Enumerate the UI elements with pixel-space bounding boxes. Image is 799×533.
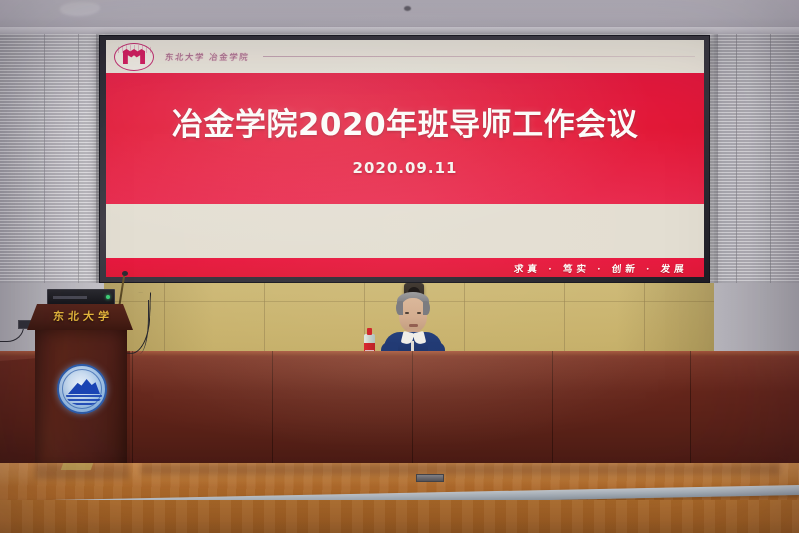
slide-footer-band: 求真 · 笃实 · 创新 · 发展	[106, 258, 704, 277]
seated-speaker	[375, 286, 451, 358]
slide-header-rule	[263, 56, 695, 57]
speaker-mouth	[409, 324, 418, 327]
floor-outlet-plate	[416, 474, 444, 482]
slide-date: 2020.09.11	[106, 159, 704, 177]
bottle-cap	[367, 328, 372, 335]
ceiling-patch	[60, 2, 100, 16]
lectern-podium[interactable]: 东北大学	[30, 304, 130, 480]
slide-body-area	[106, 204, 704, 258]
speaker-eye-right	[417, 312, 421, 314]
floor-marker-tape	[61, 463, 94, 470]
speaker-hair-right	[423, 301, 430, 315]
stage-apron	[0, 500, 799, 533]
speaker-hair-left	[396, 301, 403, 315]
podium-microphone-head-icon	[122, 271, 128, 276]
led-screen[interactable]: 东北大学 冶金学院 冶金学院2020年班导师工作会议 2020.09.11 求真…	[99, 35, 710, 283]
slide-header: 东北大学 冶金学院	[106, 40, 704, 73]
slide-motto: 求真 · 笃实 · 创新 · 发展	[514, 261, 689, 275]
ceiling-sensor-icon	[404, 6, 411, 11]
podium-name-plate: 东北大学	[29, 308, 136, 324]
floor-gloss-reflection	[0, 463, 799, 487]
ceiling	[0, 0, 799, 30]
podium-power-led-icon	[106, 295, 110, 299]
slide-title: 冶金学院2020年班导师工作会议	[106, 99, 704, 144]
bottle-label	[364, 343, 375, 351]
podium-control-strip	[53, 296, 87, 299]
slide-organization-name: 东北大学 冶金学院	[164, 51, 249, 63]
podium-control-panel[interactable]	[47, 289, 115, 305]
conference-room-photo: 东北大学 冶金学院 冶金学院2020年班导师工作会议 2020.09.11 求真…	[0, 0, 799, 533]
neu-mountain-wave-emblem-icon	[57, 364, 107, 414]
emblem-crown-mark-icon	[123, 49, 145, 64]
apron-wood-grain	[0, 500, 799, 533]
neu-metallurgy-emblem-icon	[114, 43, 154, 71]
podium-body	[35, 330, 127, 472]
slide-canvas: 东北大学 冶金学院 冶金学院2020年班导师工作会议 2020.09.11 求真…	[106, 40, 704, 277]
speaker-eye-left	[405, 312, 409, 314]
